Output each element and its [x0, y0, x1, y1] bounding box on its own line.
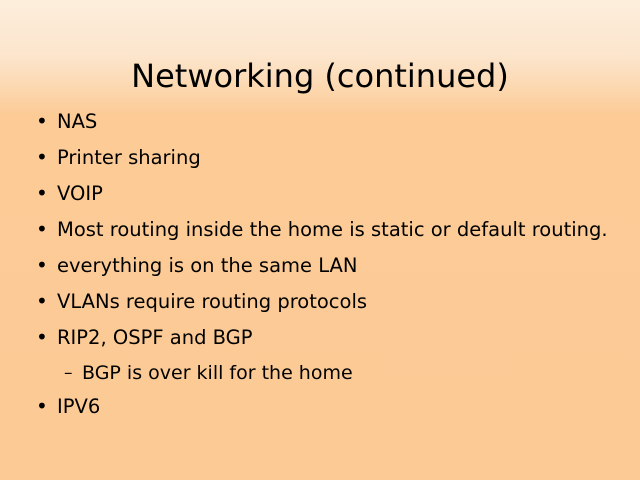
page-title: Networking (continued): [0, 57, 640, 95]
bullet-dot-icon: •: [36, 393, 57, 420]
list-item: •VLANs require routing protocols: [36, 288, 616, 315]
list-item-label: BGP is over kill for the home: [82, 360, 616, 386]
list-item-label: VOIP: [57, 180, 616, 207]
list-item-label: VLANs require routing protocols: [57, 288, 616, 315]
list-item: •Printer sharing: [36, 144, 616, 171]
list-item-label: NAS: [57, 108, 616, 135]
list-item-label: everything is on the same LAN: [57, 252, 616, 279]
list-item-label: RIP2, OSPF and BGP: [57, 324, 616, 351]
bullet-dot-icon: •: [36, 108, 57, 135]
list-item-label: IPV6: [57, 393, 616, 420]
bullet-dot-icon: •: [36, 144, 57, 171]
list-item: –BGP is over kill for the home: [36, 360, 616, 386]
list-item: •NAS: [36, 108, 616, 135]
list-item: •RIP2, OSPF and BGP: [36, 324, 616, 351]
list-item: •Most routing inside the home is static …: [36, 216, 616, 243]
bullet-dot-icon: •: [36, 180, 57, 207]
list-item-label: Most routing inside the home is static o…: [57, 216, 616, 243]
list-item-label: Printer sharing: [57, 144, 616, 171]
bullet-dot-icon: •: [36, 324, 57, 351]
bullet-dot-icon: •: [36, 252, 57, 279]
presentation-slide: Networking (continued) •NAS•Printer shar…: [0, 0, 640, 480]
list-item: •IPV6: [36, 393, 616, 420]
bullet-dot-icon: •: [36, 216, 57, 243]
list-item: •VOIP: [36, 180, 616, 207]
list-item: •everything is on the same LAN: [36, 252, 616, 279]
bullet-dash-icon: –: [64, 360, 82, 386]
bullet-dot-icon: •: [36, 288, 57, 315]
bullet-list: •NAS•Printer sharing•VOIP•Most routing i…: [36, 108, 616, 429]
